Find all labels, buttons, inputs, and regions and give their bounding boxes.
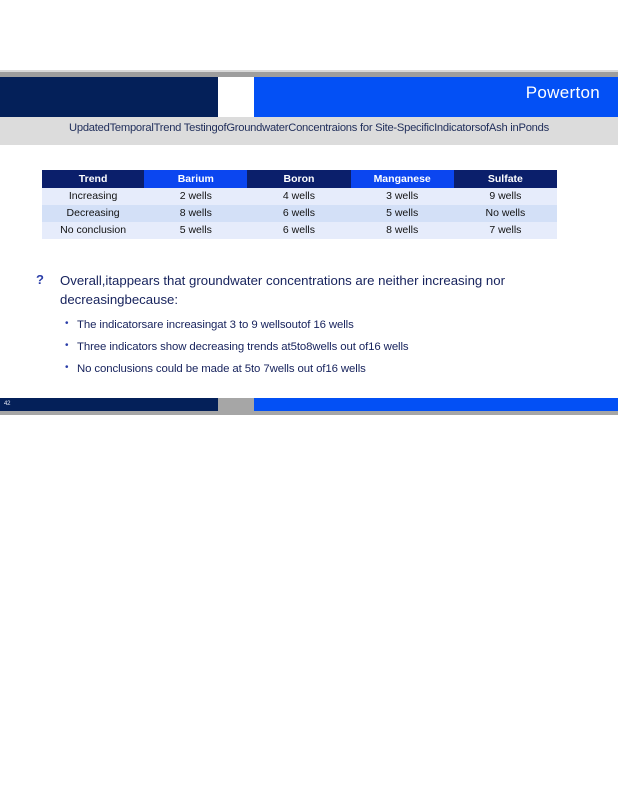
slide-title: Powerton [526, 83, 600, 103]
bullet-level1-text: Overall,itappears that groundwater conce… [60, 273, 505, 307]
table-row: No conclusion 5 wells 6 wells 8 wells 7 … [42, 222, 557, 239]
table-row: Decreasing 8 wells 6 wells 5 wells No we… [42, 205, 557, 222]
column-header-barium: Barium [144, 170, 247, 188]
subtitle-band: UpdatedTemporalTrend TestingofGroundwate… [0, 117, 618, 145]
footer-navy-segment: 42 [0, 398, 218, 411]
cell-boron: 4 wells [247, 188, 350, 205]
dot-bullet-icon: • [65, 313, 68, 335]
slide-canvas: Powerton UpdatedTemporalTrend TestingofG… [0, 0, 618, 418]
header-white-gap [218, 77, 254, 117]
table-row: Increasing 2 wells 4 wells 3 wells 9 wel… [42, 188, 557, 205]
bullet-level2-text: The indicatorsare increasingat 3 to 9 we… [77, 319, 354, 331]
slide-footer-bar: 42 [0, 398, 618, 411]
header-navy-segment [0, 77, 218, 117]
cell-sulfate: 9 wells [454, 188, 557, 205]
column-header-boron: Boron [247, 170, 350, 188]
bullet-level2: • The indicatorsare increasingat 3 to 9 … [32, 314, 592, 336]
bullet-level2-text: No conclusions could be made at 5to 7wel… [77, 363, 366, 375]
cell-manganese: 3 wells [351, 188, 454, 205]
cell-trend: No conclusion [42, 222, 144, 239]
bullet-level1: ? Overall,itappears that groundwater con… [32, 272, 592, 309]
cell-barium: 8 wells [144, 205, 247, 222]
cell-trend: Increasing [42, 188, 144, 205]
header-blue-segment: Powerton [254, 77, 618, 117]
trend-summary-table: Trend Barium Boron Manganese Sulfate Inc… [42, 170, 557, 239]
cell-manganese: 5 wells [351, 205, 454, 222]
slide-subtitle: UpdatedTemporalTrend TestingofGroundwate… [0, 122, 618, 134]
question-mark-bullet-icon: ? [36, 271, 44, 290]
slide-header-bar: Powerton [0, 77, 618, 117]
column-header-sulfate: Sulfate [454, 170, 557, 188]
bullet-level2-text: Three indicators show decreasing trends … [77, 341, 409, 353]
cell-barium: 2 wells [144, 188, 247, 205]
dot-bullet-icon: • [65, 357, 68, 379]
column-header-trend: Trend [42, 170, 144, 188]
cell-manganese: 8 wells [351, 222, 454, 239]
column-header-manganese: Manganese [351, 170, 454, 188]
page-number: 42 [4, 399, 10, 409]
footer-gray-strip [0, 411, 618, 415]
cell-sulfate: 7 wells [454, 222, 557, 239]
footer-gray-segment [218, 398, 254, 411]
cell-sulfate: No wells [454, 205, 557, 222]
table-header-row: Trend Barium Boron Manganese Sulfate [42, 170, 557, 188]
cell-boron: 6 wells [247, 222, 350, 239]
bullet-list: ? Overall,itappears that groundwater con… [32, 272, 592, 380]
cell-boron: 6 wells [247, 205, 350, 222]
dot-bullet-icon: • [65, 335, 68, 357]
bullet-level2: • No conclusions could be made at 5to 7w… [32, 358, 592, 380]
cell-trend: Decreasing [42, 205, 144, 222]
bullet-level2: • Three indicators show decreasing trend… [32, 336, 592, 358]
footer-blue-segment [254, 398, 618, 411]
cell-barium: 5 wells [144, 222, 247, 239]
